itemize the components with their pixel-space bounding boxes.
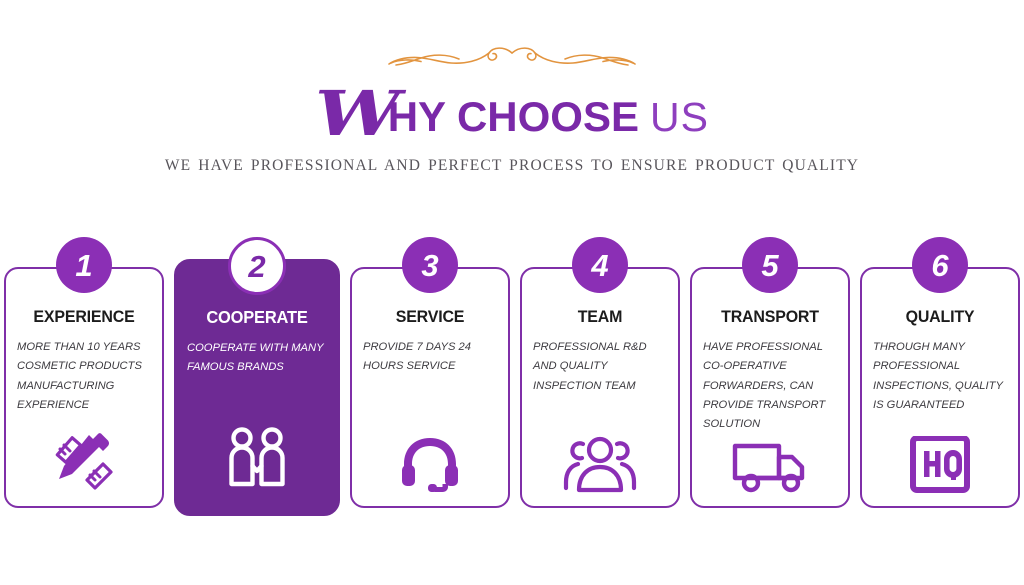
card-number: 3 [421, 250, 438, 281]
title-accent-text: US [650, 94, 709, 141]
delivery-truck-icon [692, 418, 848, 494]
card-title: EXPERIENCE [21, 307, 147, 327]
why-choose-us-infographic: W HY CHOOSE US WE HAVE PROFESSIONAL AND … [0, 0, 1024, 585]
headset-icon [352, 418, 508, 494]
card-number: 4 [591, 250, 608, 281]
feature-card-team[interactable]: TEAM PROFESSIONAL R&D AND QUALITY INSPEC… [520, 237, 680, 527]
card-description: MORE THAN 10 YEARS COSMETIC PRODUCTS MAN… [17, 338, 151, 415]
ornamental-flourish-divider [347, 44, 677, 78]
card-number-badge: 5 [742, 237, 798, 293]
card-number-badge: 3 [402, 237, 458, 293]
card-body[interactable]: COOPERATE COOPERATE WITH MANY FAMOUS BRA… [174, 259, 340, 516]
people-group-icon [522, 418, 678, 494]
card-number-badge: 6 [912, 237, 968, 293]
card-number: 2 [248, 251, 265, 282]
feature-card-cooperate[interactable]: COOPERATE COOPERATE WITH MANY FAMOUS BRA… [174, 237, 340, 527]
pencil-ruler-icon [6, 418, 162, 494]
card-body[interactable]: TEAM PROFESSIONAL R&D AND QUALITY INSPEC… [520, 267, 680, 508]
feature-card-experience[interactable]: EXPERIENCE MORE THAN 10 YEARS COSMETIC P… [4, 237, 164, 527]
card-body[interactable]: EXPERIENCE MORE THAN 10 YEARS COSMETIC P… [4, 267, 164, 508]
card-body[interactable]: TRANSPORT HAVE PROFESSIONAL CO-OPERATIVE… [690, 267, 850, 508]
card-number-badge: 1 [56, 237, 112, 293]
card-body[interactable]: SERVICE PROVIDE 7 DAYS 24 HOURS SERVICE [350, 267, 510, 508]
title-script-letter: W [315, 86, 396, 142]
card-description: COOPERATE WITH MANY FAMOUS BRANDS [187, 339, 327, 378]
card-body[interactable]: QUALITY THROUGH MANY PROFESSIONAL INSPEC… [860, 267, 1020, 508]
feature-card-transport[interactable]: TRANSPORT HAVE PROFESSIONAL CO-OPERATIVE… [690, 237, 850, 527]
card-number-badge: 2 [228, 237, 286, 295]
card-title: COOPERATE [191, 307, 323, 328]
card-description: THROUGH MANY PROFESSIONAL INSPECTIONS, Q… [873, 338, 1007, 415]
page-subtitle: WE HAVE PROFESSIONAL AND PERFECT PROCESS… [0, 157, 1024, 175]
page-title: W HY CHOOSE US [0, 82, 1024, 141]
card-number: 1 [75, 250, 92, 281]
card-description: PROVIDE 7 DAYS 24 HOURS SERVICE [363, 338, 497, 377]
card-title: TRANSPORT [707, 307, 833, 327]
card-title: TEAM [537, 307, 663, 327]
hq-badge-icon [862, 418, 1018, 494]
header: W HY CHOOSE US WE HAVE PROFESSIONAL AND … [0, 44, 1024, 175]
card-number: 6 [931, 250, 948, 281]
feature-card-service[interactable]: SERVICE PROVIDE 7 DAYS 24 HOURS SERVICE [350, 237, 510, 527]
feature-card-list: EXPERIENCE MORE THAN 10 YEARS COSMETIC P… [0, 237, 1024, 527]
card-description: PROFESSIONAL R&D AND QUALITY INSPECTION … [533, 338, 667, 396]
feature-card-quality[interactable]: QUALITY THROUGH MANY PROFESSIONAL INSPEC… [860, 237, 1020, 527]
card-number-badge: 4 [572, 237, 628, 293]
title-main-text: HY CHOOSE [388, 93, 639, 141]
card-number: 5 [761, 250, 778, 281]
handshake-people-icon [176, 420, 338, 496]
card-title: QUALITY [877, 307, 1003, 327]
card-title: SERVICE [367, 307, 493, 327]
